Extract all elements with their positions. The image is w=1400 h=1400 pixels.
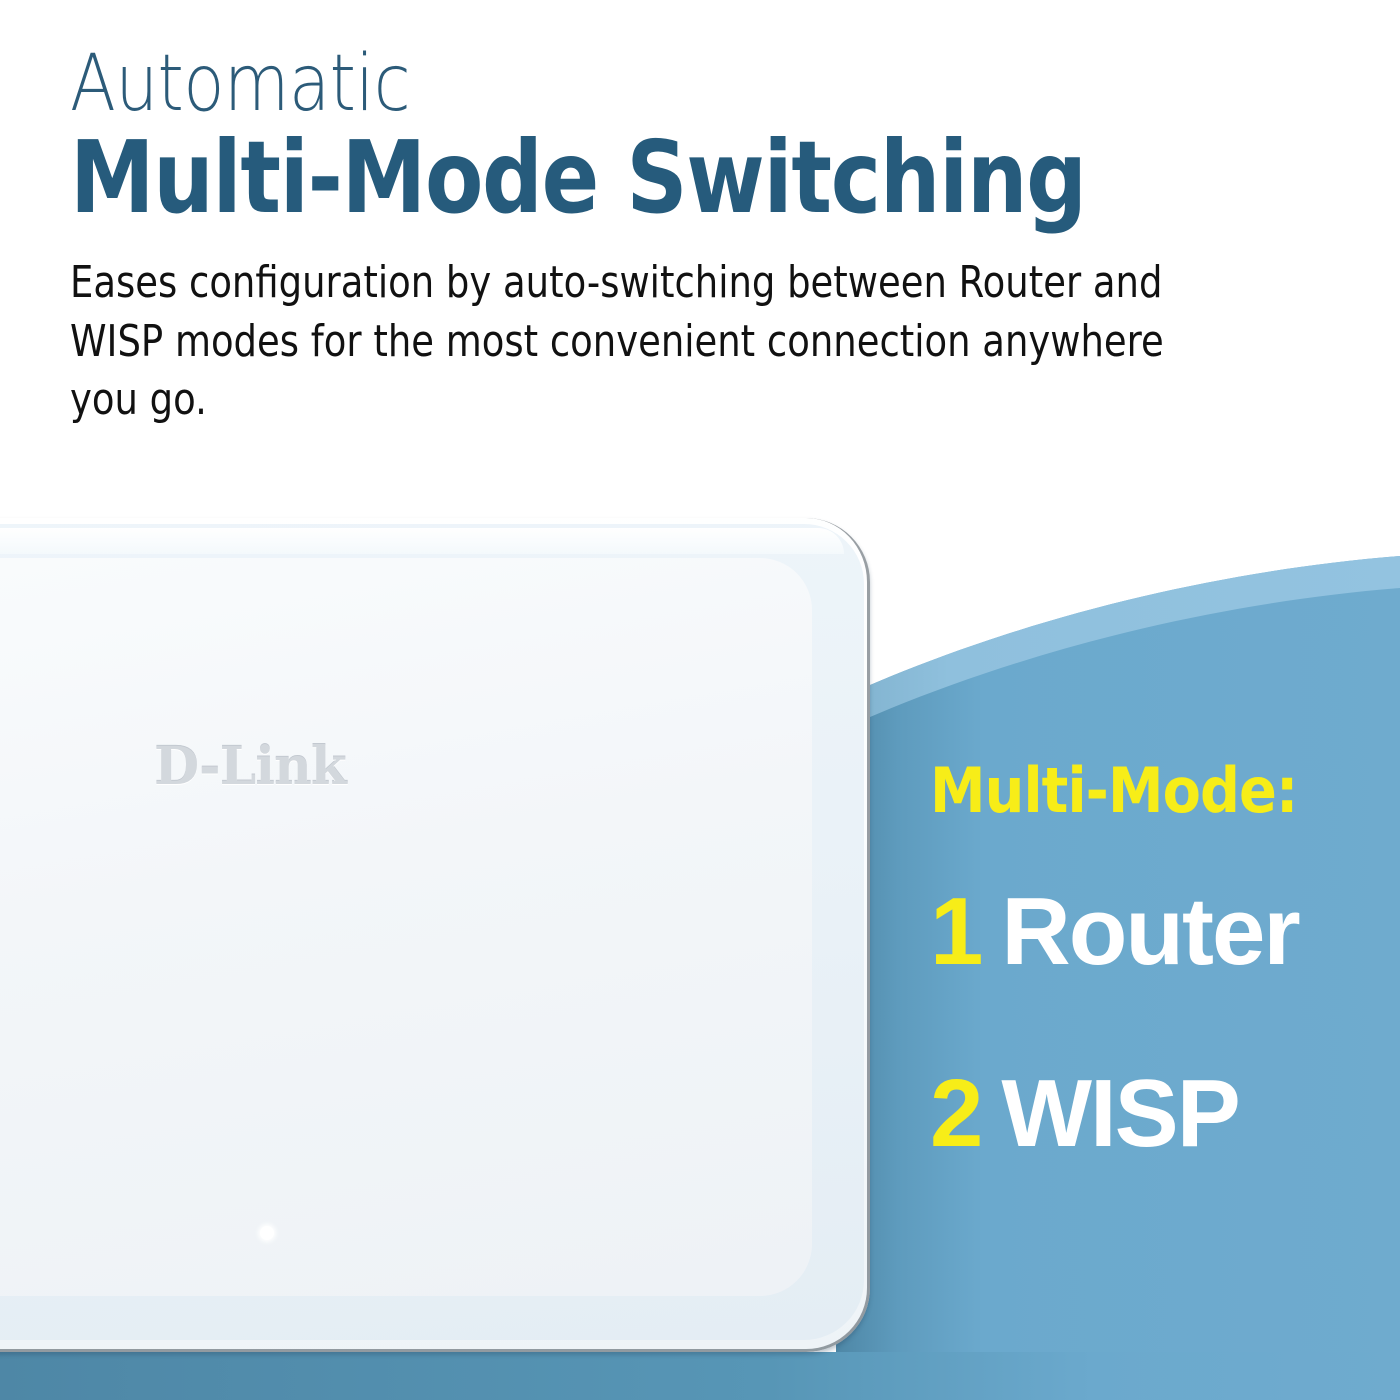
mode-number-2: 2 bbox=[930, 1060, 981, 1167]
infographic-canvas: Automatic Multi-Mode Switching Eases con… bbox=[0, 0, 1400, 1400]
device-top-highlight bbox=[0, 528, 844, 554]
dlink-brand-logo: D-Link bbox=[154, 736, 346, 797]
multi-mode-callout: Multi-Mode: 1Router 2WISP bbox=[930, 760, 1400, 1162]
device-top-face: D-Link bbox=[0, 558, 812, 1296]
router-device-image: D-Link bbox=[0, 518, 870, 1352]
mode-label-wisp: WISP bbox=[1001, 1060, 1238, 1167]
mode-number-1: 1 bbox=[930, 878, 981, 985]
page-title: Multi-Mode Switching bbox=[70, 128, 1073, 228]
eyebrow-text: Automatic bbox=[70, 46, 1085, 122]
blue-bottom-strip bbox=[0, 1352, 1400, 1400]
description-paragraph: Eases configuration by auto-switching be… bbox=[70, 254, 1229, 430]
mode-list-item-wisp: 2WISP bbox=[930, 1066, 1400, 1162]
mode-label-router: Router bbox=[1001, 878, 1298, 985]
description-text: Eases configuration by auto-switching be… bbox=[70, 254, 1229, 430]
headline-text-block: Automatic Multi-Mode Switching Eases con… bbox=[70, 46, 1250, 430]
status-led-icon bbox=[260, 1226, 274, 1240]
mode-list-item-router: 1Router bbox=[930, 884, 1400, 980]
multi-mode-title: Multi-Mode: bbox=[930, 760, 1353, 822]
